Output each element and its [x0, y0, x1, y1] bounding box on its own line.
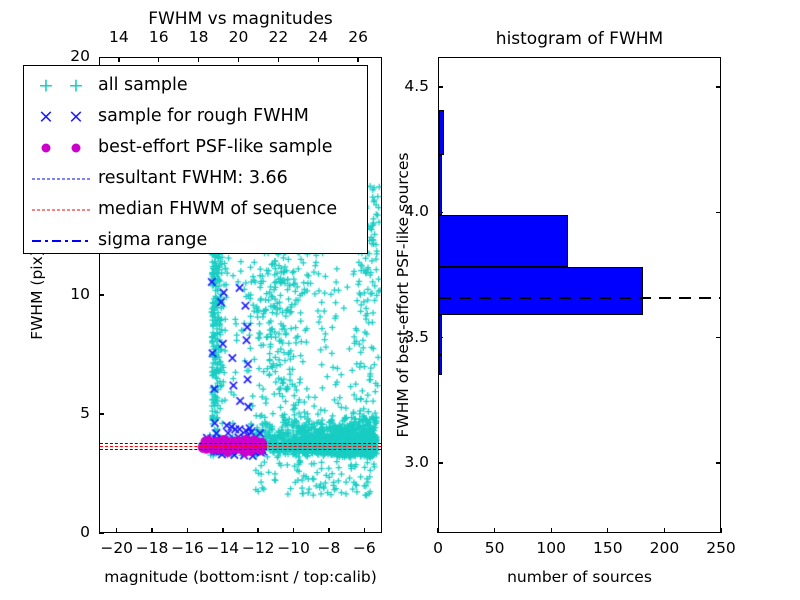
tick-label: −18 [136, 541, 169, 557]
histogram-title: histogram of FWHM [496, 31, 663, 48]
histogram-bar [439, 155, 442, 215]
cross-icon: × [68, 107, 84, 126]
histogram-x-axis-label: number of sources [507, 570, 652, 586]
legend-item-4: median FHWM of sequence [24, 194, 367, 225]
tick-label: 10 [70, 287, 90, 303]
line-dashdot-icon [32, 240, 90, 242]
tick-label: −14 [206, 541, 239, 557]
scatter-plot-title: FWHM vs magnitudes [148, 11, 333, 28]
figure-canvas: FWHM vs magnitudes magnitude (bottom:isn… [0, 0, 800, 600]
dot-icon [42, 143, 51, 152]
legend-marker-dot-icon [24, 132, 98, 163]
histogram-median-line [439, 297, 720, 299]
legend-label: sigma range [98, 232, 207, 250]
legend-marker-dashdot-icon [24, 225, 98, 256]
reference-line-resultant-fwhm [100, 443, 381, 444]
tick-label: 3.5 [404, 330, 429, 346]
tick-label: 0 [80, 525, 90, 541]
histogram-data-region [439, 58, 720, 532]
legend-item-5: sigma range [24, 225, 367, 256]
scatter-x-axis-label: magnitude (bottom:isnt / top:calib) [104, 570, 377, 586]
cross-icon: × [38, 107, 54, 126]
histogram-bar [439, 110, 444, 155]
legend-label: all sample [98, 77, 188, 95]
tick-label: 18 [189, 30, 209, 46]
tick-label: −6 [353, 541, 376, 557]
tick-label: −8 [318, 541, 341, 557]
legend-marker-plus-icon: ++ [24, 70, 98, 101]
legend-item-1: ××sample for rough FWHM [24, 101, 367, 132]
dot-icon [72, 143, 81, 152]
tick-label: −16 [171, 541, 204, 557]
scatter-y-axis-label: FWHM (pix) [30, 250, 46, 340]
reference-line-sigma-range [100, 449, 381, 450]
tick-label: 100 [536, 541, 566, 557]
tick-label: 4.5 [404, 79, 429, 95]
tick-label: 14 [109, 30, 129, 46]
reference-line-median-fhwm-of-sequence [100, 446, 381, 447]
tick-label: −20 [100, 541, 133, 557]
tick-label: 150 [593, 541, 623, 557]
plus-icon: + [38, 76, 54, 95]
legend-label: best-effort PSF-like sample [98, 139, 333, 157]
tick-label: 3.0 [404, 455, 429, 471]
histogram-bar [439, 267, 643, 315]
legend-label: median FHWM of sequence [98, 201, 337, 219]
plus-icon: + [68, 76, 84, 95]
tick-label: 24 [308, 30, 328, 46]
tick-label: 4.0 [404, 204, 429, 220]
tick-label: 0 [433, 541, 443, 557]
tick-label: 16 [149, 30, 169, 46]
tick-label: 20 [70, 49, 90, 65]
line-dashed-icon [32, 209, 90, 210]
tick-label: 20 [229, 30, 249, 46]
legend: ++all sample××sample for rough FWHMbest-… [23, 65, 368, 254]
histogram-bar [439, 315, 442, 355]
legend-label: sample for rough FWHM [98, 108, 309, 126]
tick-label: 26 [348, 30, 368, 46]
legend-item-0: ++all sample [24, 70, 367, 101]
tick-label: −10 [277, 541, 310, 557]
legend-item-2: best-effort PSF-like sample [24, 132, 367, 163]
legend-item-3: resultant FWHM: 3.66 [24, 163, 367, 194]
tick-label: 200 [650, 541, 680, 557]
legend-marker-cross-icon: ×× [24, 101, 98, 132]
legend-marker-dashed-icon [24, 163, 98, 194]
legend-items: ++all sample××sample for rough FWHMbest-… [24, 66, 367, 260]
histogram-y-axis-label: FWHM of best-effort PSF-like sources [396, 152, 412, 437]
histogram-bar [439, 355, 442, 375]
line-dashed-icon [32, 178, 90, 179]
tick-label: 250 [706, 541, 736, 557]
tick-label: 22 [268, 30, 288, 46]
legend-label: resultant FWHM: 3.66 [98, 170, 288, 188]
legend-marker-dashed-icon [24, 194, 98, 225]
histogram-bar [439, 215, 568, 268]
tick-label: −12 [242, 541, 275, 557]
tick-label: 50 [485, 541, 505, 557]
tick-label: 5 [80, 406, 90, 422]
